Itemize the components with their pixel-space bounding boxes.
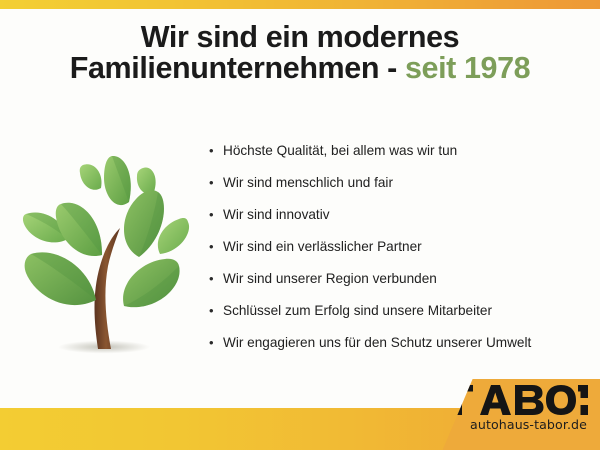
tree-illustration [12,142,192,367]
bullet-icon: • [209,173,223,193]
tree-leaf [80,164,102,190]
page-title: Wir sind ein modernes Familienunternehme… [0,22,600,84]
list-item: • Wir sind menschlich und fair [209,173,599,205]
slide-canvas: Wir sind ein modernes Familienunternehme… [0,0,600,450]
list-item: • Wir sind innovativ [209,205,599,237]
headline-line-1: Wir sind ein modernes [0,22,600,53]
bullet-icon: • [209,237,223,257]
list-item: • Wir engagieren uns für den Schutz unse… [209,333,599,365]
headline-line-2-main: Familienunternehmen - [70,51,405,85]
list-item: • Höchste Qualität, bei allem was wir tu… [209,141,599,173]
tree-leaf [137,168,156,194]
bullet-icon: • [209,205,223,225]
tree-leaf [158,218,189,254]
list-item-label: Wir sind menschlich und fair [223,173,393,193]
list-item-label: Wir engagieren uns für den Schutz unsere… [223,333,531,353]
headline-accent-year: seit 1978 [405,51,530,85]
list-item-label: Wir sind ein verlässlicher Partner [223,237,422,257]
bullet-icon: • [209,301,223,321]
top-accent-bar [0,0,600,9]
bullet-icon: • [209,269,223,289]
logo-url: autohaus-tabor.de [470,417,587,432]
tabor-logo [442,385,588,415]
list-item: • Schlüssel zum Erfolg sind unsere Mitar… [209,301,599,333]
headline-line-2: Familienunternehmen - seit 1978 [0,53,600,84]
list-item-label: Schlüssel zum Erfolg sind unsere Mitarbe… [223,301,492,321]
list-item-label: Wir sind innovativ [223,205,330,225]
list-item: • Wir sind unserer Region verbunden [209,269,599,301]
list-item: • Wir sind ein verlässlicher Partner [209,237,599,269]
value-list: • Höchste Qualität, bei allem was wir tu… [209,141,599,365]
list-item-label: Wir sind unserer Region verbunden [223,269,437,289]
bullet-icon: • [209,141,223,161]
bullet-icon: • [209,333,223,353]
list-item-label: Höchste Qualität, bei allem was wir tun [223,141,457,161]
